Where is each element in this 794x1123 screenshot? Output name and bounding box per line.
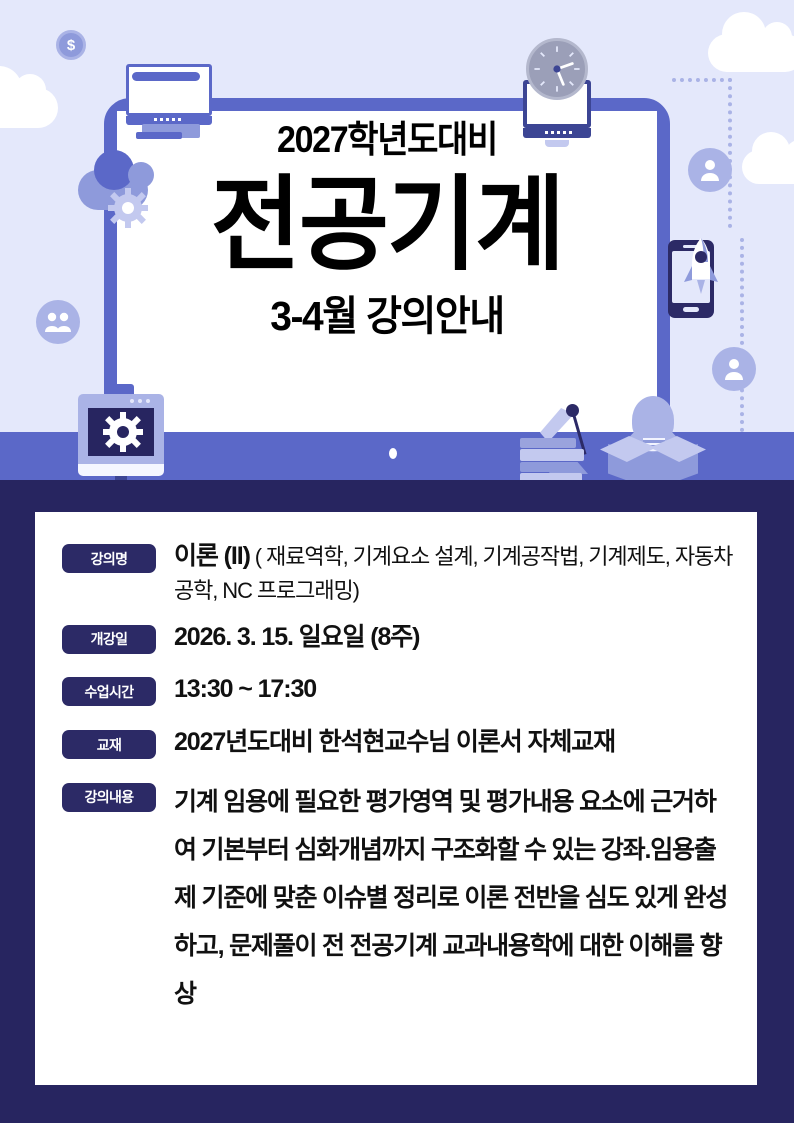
course-info-card: 강의명 이론 (II) ( 재료역학, 기계요소 설계, 기계공작법, 기계제도… bbox=[35, 512, 757, 1085]
value-textbook: 2027년도대비 한석현교수님 이론서 자체교재 bbox=[174, 726, 735, 760]
dotted-connector bbox=[740, 238, 744, 448]
course-info-rows: 강의명 이론 (II) ( 재료역학, 기계요소 설계, 기계공작법, 기계제도… bbox=[35, 512, 757, 1018]
label-badge-start-date: 개강일 bbox=[62, 625, 156, 654]
dotted-connector bbox=[672, 78, 732, 82]
info-row-textbook: 교재 2027년도대비 한석현교수님 이론서 자체교재 bbox=[62, 725, 735, 760]
user-avatar-icon bbox=[712, 347, 756, 391]
value-class-time: 13:30 ~ 17:30 bbox=[174, 673, 735, 707]
cloud-icon bbox=[0, 88, 58, 128]
poster-root: $ bbox=[0, 0, 794, 1123]
settings-monitor-icon bbox=[78, 394, 164, 480]
info-row-course-name: 강의명 이론 (II) ( 재료역학, 기계요소 설계, 기계공작법, 기계제도… bbox=[62, 539, 735, 606]
value-start-date: 2026. 3. 15. 일요일 (8주) bbox=[174, 621, 735, 655]
lightbulb-icon bbox=[632, 396, 674, 444]
course-name-strong: 이론 (II) bbox=[174, 542, 250, 570]
info-row-description: 강의내용 기계 임용에 필요한 평가영역 및 평가내용 요소에 근거하여 기본부… bbox=[62, 778, 735, 1018]
hero-kicker: 2027학년도대비 bbox=[139, 120, 636, 161]
hero-headline: 2027학년도대비 전공기계 3-4월 강의안내 bbox=[117, 120, 657, 339]
group-avatar-icon bbox=[36, 300, 80, 344]
hero-title: 전공기계 bbox=[131, 167, 644, 282]
book-stack-icon bbox=[520, 438, 584, 480]
dotted-connector bbox=[728, 78, 732, 228]
user-avatar-icon bbox=[688, 148, 732, 192]
info-row-start-date: 개강일 2026. 3. 15. 일요일 (8주) bbox=[62, 620, 735, 655]
cloud-icon bbox=[742, 150, 794, 184]
label-badge-textbook: 교재 bbox=[62, 730, 156, 759]
decorative-dot bbox=[389, 448, 397, 459]
value-description: 기계 임용에 필요한 평가영역 및 평가내용 요소에 근거하여 기본부터 심화개… bbox=[174, 778, 735, 1018]
hero-subtitle: 3-4월 강의안내 bbox=[131, 294, 644, 339]
label-badge-description: 강의내용 bbox=[62, 783, 156, 812]
value-course-name: 이론 (II) ( 재료역학, 기계요소 설계, 기계공작법, 기계제도, 자동… bbox=[174, 539, 735, 606]
rocket-icon bbox=[683, 238, 719, 300]
course-name-subjects: ( 재료역학, 기계요소 설계, 기계공작법, 기계제도, 자동차공학, NC … bbox=[174, 544, 732, 603]
wall-clock-icon bbox=[526, 38, 588, 100]
label-badge-class-time: 수업시간 bbox=[62, 677, 156, 706]
label-badge-course-name: 강의명 bbox=[62, 544, 156, 573]
dollar-coin-icon: $ bbox=[56, 30, 86, 60]
cloud-icon bbox=[708, 34, 794, 72]
hero-section: $ bbox=[0, 0, 794, 480]
info-row-class-time: 수업시간 13:30 ~ 17:30 bbox=[62, 672, 735, 707]
gear-icon bbox=[103, 412, 143, 452]
